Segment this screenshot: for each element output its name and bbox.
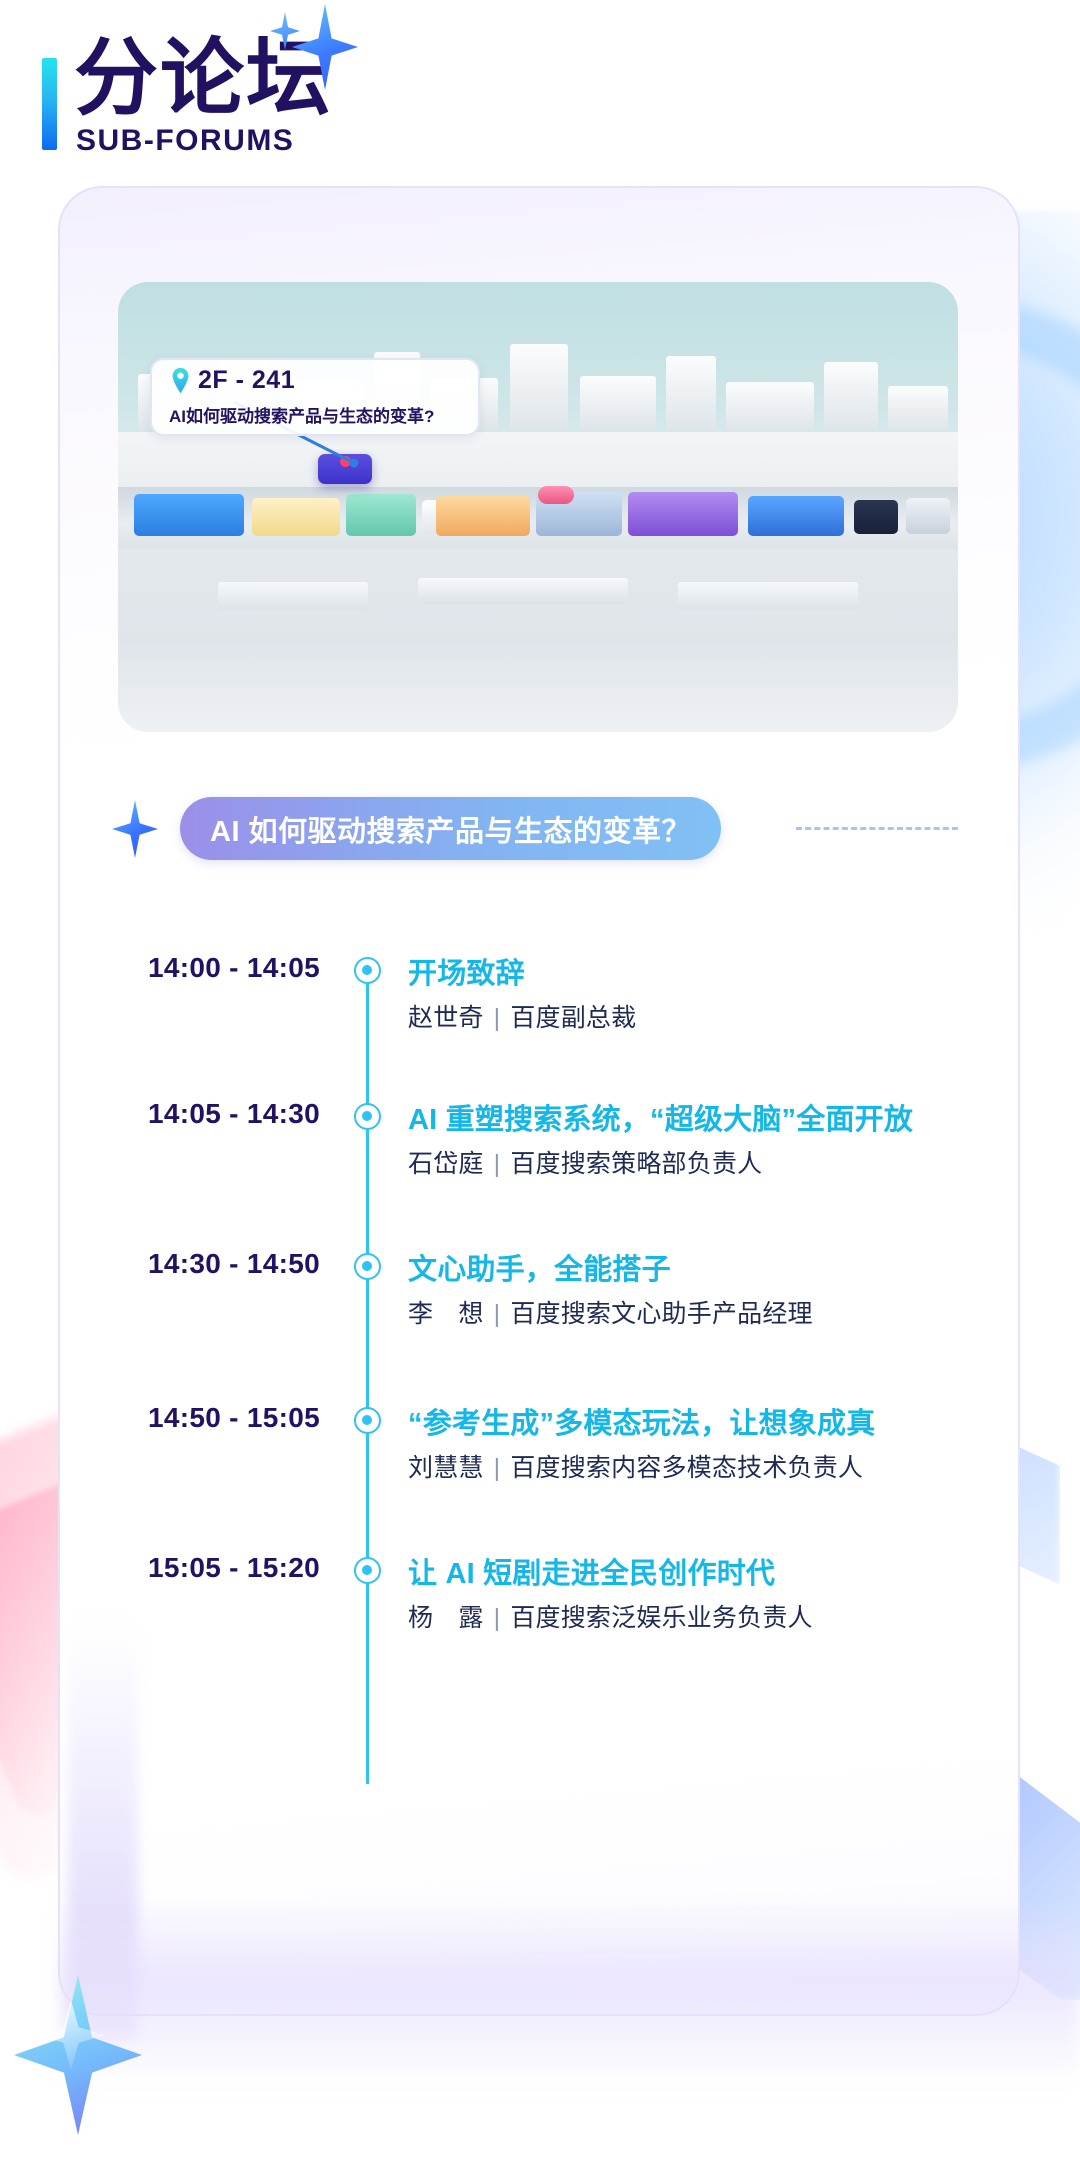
- page-header: 分论坛 SUB-FORUMS: [0, 0, 1080, 210]
- photo-floor-panel: [218, 582, 368, 610]
- agenda-item-title: 让 AI 短剧走进全民创作时代: [408, 1550, 775, 1592]
- photo-floor-panel: [418, 578, 628, 604]
- map-pin-icon: [170, 367, 191, 394]
- header-accent-bar: [42, 58, 57, 150]
- photo-hall-box: [666, 356, 716, 430]
- location-code-row: 2F - 241: [170, 366, 295, 395]
- photo-booth-blue2: [748, 496, 844, 536]
- agenda-speaker-separator: |: [484, 1300, 511, 1328]
- photo-booth-pink: [538, 486, 574, 504]
- agenda-speaker-name: 杨 露: [408, 1604, 484, 1632]
- agenda-speaker-separator: |: [484, 1150, 511, 1178]
- location-code: 2F - 241: [198, 366, 295, 395]
- photo-booth-light: [906, 498, 950, 534]
- photo-hall-box: [510, 344, 568, 430]
- photo-hall-box: [580, 376, 656, 430]
- agenda-speaker-role: 百度搜索策略部负责人: [510, 1150, 762, 1178]
- section-title: AI 如何驱动搜索产品与生态的变革？: [180, 797, 721, 860]
- agenda-item-speaker: 李 想|百度搜索文心助手产品经理: [408, 1294, 813, 1330]
- agenda-item-dot: [354, 1557, 381, 1584]
- agenda-item-time: 15:05 - 15:20: [70, 1552, 320, 1584]
- agenda-item-time: 14:50 - 15:05: [70, 1402, 320, 1434]
- agenda-speaker-name: 赵世奇: [408, 1004, 484, 1032]
- photo-booth-blue: [134, 494, 244, 536]
- photo-hall-box: [726, 382, 814, 430]
- agenda-item-dot: [354, 1407, 381, 1434]
- agenda-item-time: 14:00 - 14:05: [70, 952, 320, 984]
- photo-booth-dark: [854, 500, 898, 534]
- location-subtitle: AI如何驱动搜索产品与生态的变革?: [169, 402, 434, 427]
- agenda-item-title: 文心助手，全能搭子: [408, 1246, 671, 1288]
- agenda-speaker-name: 李 想: [408, 1300, 484, 1328]
- agenda-item-dot: [354, 1253, 381, 1280]
- venue-photo: [118, 282, 958, 732]
- agenda-item-speaker: 杨 露|百度搜索泛娱乐业务负责人: [408, 1598, 813, 1634]
- agenda-speaker-role: 百度搜索泛娱乐业务负责人: [510, 1604, 812, 1632]
- poster-page: 分论坛 SUB-FORUMS: [0, 0, 1080, 2173]
- photo-hall-box: [888, 386, 948, 430]
- agenda-speaker-separator: |: [484, 1004, 511, 1032]
- agenda-speaker-name: 刘慧慧: [408, 1454, 484, 1482]
- photo-booth-green: [346, 494, 416, 536]
- agenda-item-speaker: 刘慧慧|百度搜索内容多模态技术负责人: [408, 1448, 863, 1484]
- agenda-item-title: AI 重塑搜索系统，“超级大脑”全面开放: [408, 1096, 913, 1138]
- agenda-item-speaker: 赵世奇|百度副总裁: [408, 998, 636, 1034]
- photo-booth-purple: [628, 492, 738, 536]
- photo-hall-box: [824, 362, 878, 430]
- agenda-speaker-separator: |: [484, 1604, 511, 1632]
- agenda-item-dot: [354, 1103, 381, 1130]
- agenda-speaker-name: 石岱庭: [408, 1150, 484, 1178]
- photo-booth-cream: [252, 498, 340, 536]
- agenda-speaker-role: 百度副总裁: [510, 1004, 636, 1032]
- page-title: 分论坛: [74, 36, 332, 122]
- agenda-item-time: 14:05 - 14:30: [70, 1098, 320, 1130]
- agenda-speaker-separator: |: [484, 1454, 511, 1482]
- agenda-item-title: 开场致辞: [408, 950, 525, 992]
- photo-booth-orange: [436, 496, 530, 536]
- agenda-item-time: 14:30 - 14:50: [70, 1248, 320, 1280]
- location-badge: 2F - 241 AI如何驱动搜索产品与生态的变革?: [150, 358, 480, 436]
- photo-floor-panel: [678, 582, 858, 610]
- agenda-item-speaker: 石岱庭|百度搜索策略部负责人: [408, 1144, 762, 1180]
- agenda-item-title: “参考生成”多模态玩法，让想象成真: [408, 1400, 875, 1442]
- agenda-speaker-role: 百度搜索文心助手产品经理: [510, 1300, 812, 1328]
- section-title-dashed-rule: [796, 827, 958, 830]
- highlighted-booth-marker: [340, 456, 351, 467]
- agenda-speaker-role: 百度搜索内容多模态技术负责人: [510, 1454, 863, 1482]
- agenda-item-dot: [354, 957, 381, 984]
- timeline-line: [366, 962, 369, 1784]
- page-subtitle: SUB-FORUMS: [76, 124, 294, 158]
